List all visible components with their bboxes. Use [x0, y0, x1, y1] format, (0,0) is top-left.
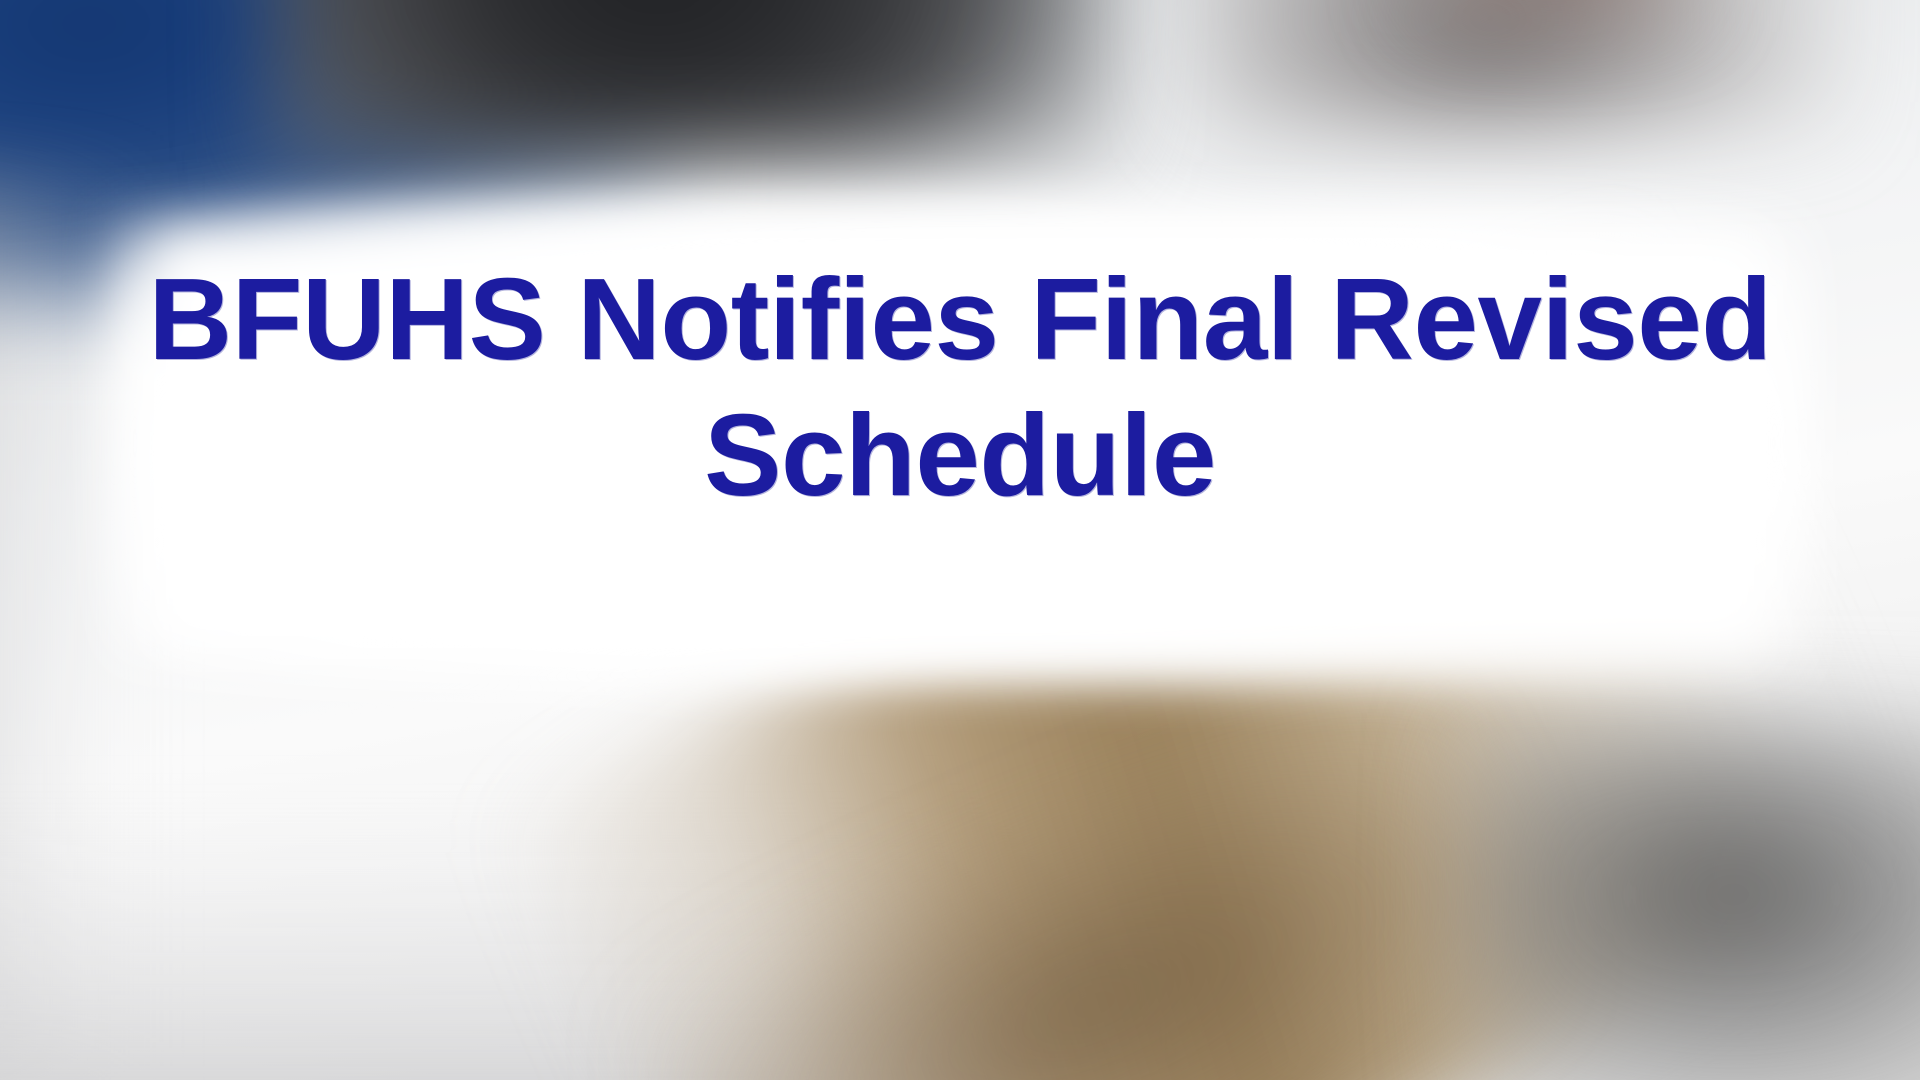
headline-line-2: Schedule — [36, 388, 1884, 522]
page-title: BFUHS Notifies Final Revised Schedule — [0, 252, 1920, 522]
news-banner: BFUHS Notifies Final Revised Schedule — [0, 0, 1920, 1080]
background-charcoal-blob — [269, 0, 1114, 162]
headline-line-1: BFUHS Notifies Final Revised — [36, 252, 1884, 386]
background-warm-accent-top-right — [1402, 0, 1709, 32]
background-gray-mass-bottom-right — [1459, 713, 1920, 1080]
